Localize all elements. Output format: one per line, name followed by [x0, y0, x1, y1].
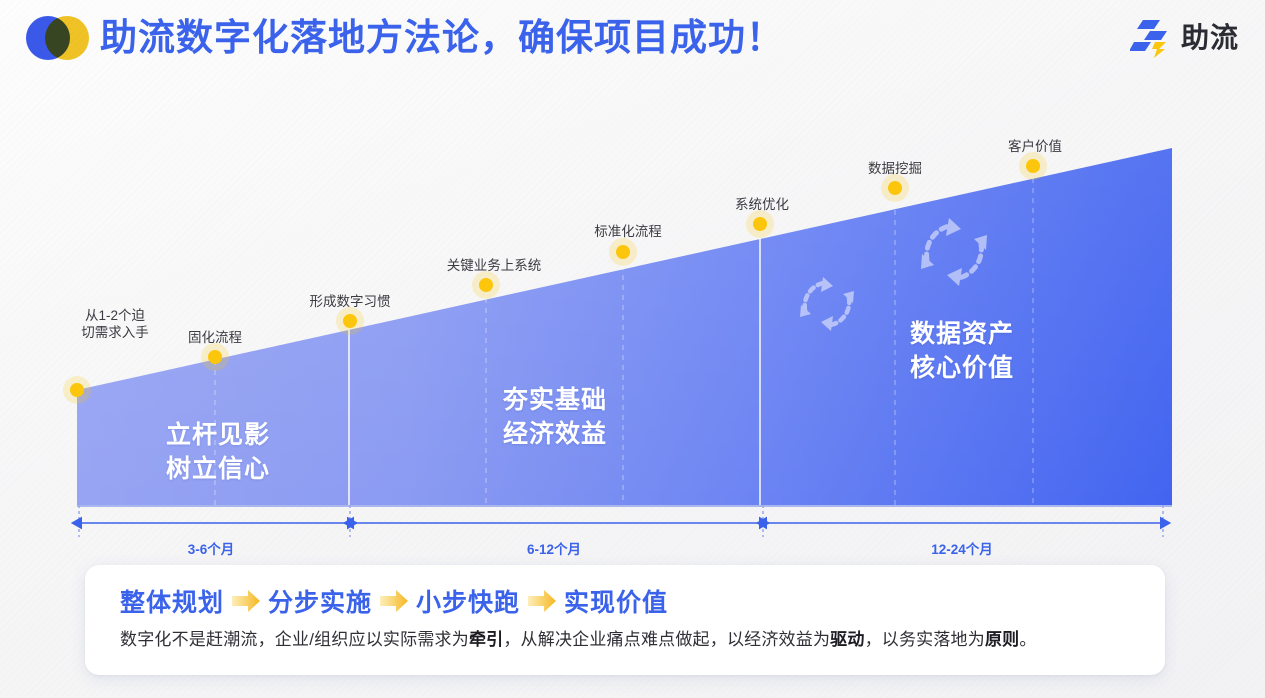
two-overlapping-circles-logo-icon [26, 12, 88, 62]
milestone-dot-1[interactable] [70, 383, 84, 397]
milestone-dot-8[interactable] [1026, 159, 1040, 173]
milestone-label-3: 形成数字习惯 [310, 293, 391, 310]
lightning-bolt-logo-icon [1130, 18, 1172, 58]
roadmap-chart: 从1-2个迫 切需求入手 固化流程 形成数字习惯 关键业务上系统 标准化流程 系… [0, 80, 1265, 520]
summary-emphasis-3: 原则 [985, 630, 1019, 649]
milestone-dot-3[interactable] [343, 314, 357, 328]
milestone-dot-5[interactable] [616, 245, 630, 259]
logo-circle-yellow [45, 16, 89, 60]
phase-title-2: 夯实基础 经济效益 [503, 383, 607, 451]
summary-text: 数字化不是赶潮流，企业/组织应以实际需求为牵引，从解决企业痛点难点做起，以经济效… [120, 627, 1037, 653]
process-step-2: 分步实施 [268, 583, 372, 619]
summary-emphasis-2: 驱动 [830, 630, 864, 649]
brand-logo: 助流 [1130, 16, 1239, 60]
timeline-label-3: 12-24个月 [931, 538, 993, 558]
right-arrow-icon-2 [379, 589, 409, 613]
page-header: 助流数字化落地方法论，确保项目成功！ 助流 [0, 0, 1265, 80]
right-arrow-icon-3 [527, 589, 557, 613]
summary-text-part-4: 。 [1019, 630, 1036, 649]
milestone-dot-4[interactable] [479, 278, 493, 292]
milestone-label-4: 关键业务上系统 [447, 257, 542, 274]
milestone-label-6: 系统优化 [735, 196, 789, 213]
phase-title-1: 立杆见影 树立信心 [166, 418, 270, 486]
summary-emphasis-1: 牵引 [469, 630, 503, 649]
milestone-label-1: 从1-2个迫 切需求入手 [81, 307, 149, 341]
summary-text-part-1: 数字化不是赶潮流，企业/组织应以实际需求为 [120, 630, 469, 649]
right-arrow-icon-1 [231, 589, 261, 613]
milestone-dot-2[interactable] [208, 350, 222, 364]
timeline-label-2: 6-12个月 [527, 538, 581, 558]
summary-card: 整体规划 分步实施 小步快跑 实现价值 数字化不是赶潮流，企业/组织应以实际需求… [85, 565, 1165, 675]
milestone-dot-7[interactable] [888, 181, 902, 195]
timeline-label-1: 3-6个月 [188, 538, 235, 558]
page-title: 助流数字化落地方法论，确保项目成功！ [100, 11, 784, 65]
process-step-3: 小步快跑 [416, 583, 520, 619]
summary-text-part-2: ，从解决企业痛点难点做起，以经济效益为 [503, 630, 830, 649]
milestone-dot-6[interactable] [753, 217, 767, 231]
process-steps: 整体规划 分步实施 小步快跑 实现价值 [120, 583, 668, 619]
process-step-1: 整体规划 [120, 583, 224, 619]
summary-text-part-3: ，以务实落地为 [865, 630, 985, 649]
milestone-label-8: 客户价值 [1008, 138, 1062, 155]
milestone-label-2: 固化流程 [188, 329, 242, 346]
brand-name: 助流 [1181, 18, 1239, 58]
timeline-axis: 3-6个月 6-12个月 12-24个月 [0, 505, 1265, 565]
process-step-4: 实现价值 [564, 583, 668, 619]
milestone-label-7: 数据挖掘 [868, 160, 922, 177]
phase-title-3: 数据资产 核心价值 [910, 317, 1014, 385]
milestone-label-5: 标准化流程 [594, 223, 662, 240]
